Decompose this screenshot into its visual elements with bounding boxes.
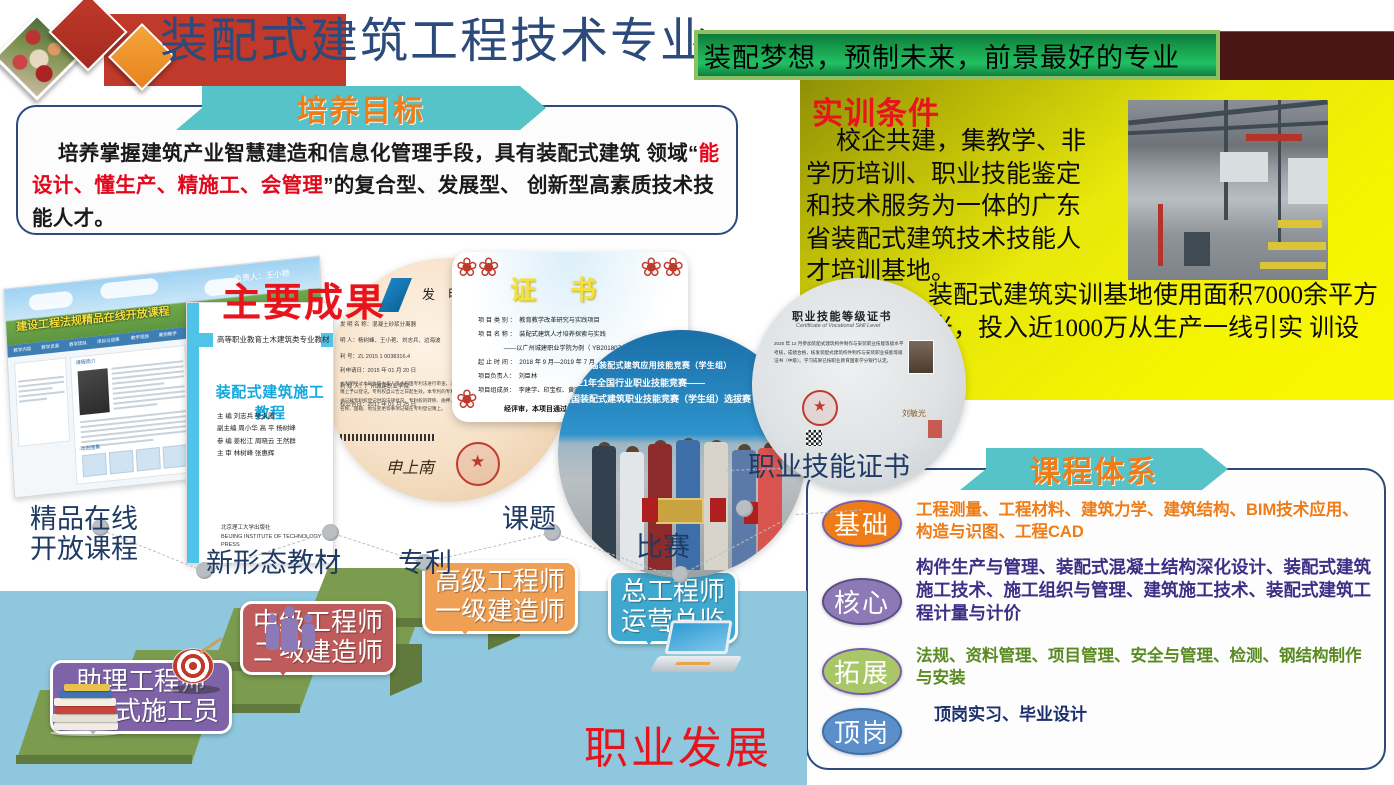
curriculum-pill-internship: 顶岗 (822, 708, 902, 755)
vocational-stamp-icon (928, 420, 942, 438)
vocational-seal-icon (802, 390, 838, 426)
result-label-online-course: 精品在线 开放课程 (30, 504, 138, 564)
laptop-icon (654, 620, 738, 672)
training-conditions-paragraph-2: 装配式建筑实训基地使用面积7000余平方米，投入近1000万从生产一线引实 训设… (928, 280, 1388, 378)
curriculum-text-internship: 顶岗实习、毕业设计 (934, 704, 1364, 726)
books-icon (50, 684, 122, 736)
textbook-series: 高等职业教育土木建筑类专业教材 (217, 334, 330, 345)
vocational-body: 2020 年 12 月参加装配式建筑构件制作与安装职业技能等级水平考核，成绩合格… (774, 340, 904, 366)
textbook-authors: 主 编 刘志兵 吴永霞 副主编 周小华 高 平 杨树峰 参 编 姜松江 周晓云 … (217, 411, 296, 460)
career-bubble-3-tail (452, 617, 478, 635)
result-label-competition: 比赛 (636, 532, 690, 562)
people-icon (264, 600, 330, 654)
header-dark-strip (1192, 31, 1394, 81)
patent-signature: 申上南 (386, 454, 434, 478)
ornament-icon-tr: ❀❀ (636, 254, 684, 288)
qr-code-icon (806, 430, 822, 446)
vocational-subtitle: Certificate of Vocational Skill Level (796, 323, 880, 329)
patent-seal-icon (456, 442, 500, 486)
curriculum-text-extension: 法规、资料管理、项目管理、安全与管理、检测、钢结构制作与安装 (916, 646, 1372, 690)
target-icon (168, 644, 226, 694)
training-conditions-paragraph-1: 校企共建，集教学、非学历培训、职业技能鉴定和技术服务为一体的广东省装配式建筑技术… (806, 126, 1086, 289)
goal-line-2-post: ”的复合型、发展型、 (323, 174, 521, 197)
ornament-icon-tl: ❀❀ (456, 254, 504, 288)
curriculum-text-foundation: 工程测量、工程材料、建筑力学、建筑结构、BIM技术应用、构造与识图、工程CAD (916, 500, 1368, 544)
curriculum-text-core: 构件生产与管理、装配式混凝土结构深化设计、装配式建筑施工技术、施工组织与管理、建… (916, 556, 1384, 625)
training-goal-text: 培养掌握建筑产业智慧建造和信息化管理手段，具有装配式建筑 领域“能设计、懂生产、… (32, 138, 732, 235)
result-label-patent: 专利 (398, 548, 452, 578)
textbook-cover: 高等职业教育土木建筑类专业教材 装配式建筑施工教程 主 编 刘志兵 吴永霞 副主… (186, 302, 334, 564)
goal-line-2-pre: 领域“ (646, 142, 698, 165)
page-title: 装配式建筑工程技术专业 (160, 18, 710, 66)
textbook-publisher: 北京理工大学出版社 BEIJING INSTITUTE OF TECHNOLOG… (221, 524, 333, 549)
curriculum-banner: 课程体系 (960, 448, 1228, 490)
portrait-photo (908, 340, 934, 374)
training-goal-banner: 培养目标 (176, 86, 546, 130)
connector-node-7 (736, 500, 753, 517)
results-title: 主要成果 (222, 272, 386, 328)
career-development-title: 职业发展 (584, 712, 772, 776)
connector-node-3 (322, 524, 339, 541)
certificate-heading: 证书 (510, 270, 630, 307)
patent-barcode (340, 434, 436, 441)
result-label-textbook: 新形态教材 (206, 548, 341, 578)
slogan-text: 装配梦想，预制未来，前景最好的专业 (698, 34, 1216, 76)
result-label-project: 课题 (502, 504, 556, 534)
vocational-signature: 刘敏光 (902, 408, 926, 419)
goal-line-1: 培养掌握建筑产业智慧建造和信息化管理手段，具有装配式建筑 (58, 142, 640, 165)
result-label-vocational-cert: 职业技能证书 (748, 452, 910, 482)
curriculum-pill-foundation: 基础 (822, 500, 902, 547)
career-bubble-2-tail (270, 658, 296, 676)
workshop-photo (1128, 100, 1328, 280)
curriculum-pill-extension: 拓展 (822, 648, 902, 695)
slide-canvas: 装配式建筑工程技术专业 装配梦想，预制未来，前景最好的专业 培养目标 培养掌握建… (0, 0, 1394, 785)
connector-node-6 (672, 566, 689, 583)
vocational-title: 职业技能等级证书 (792, 308, 892, 324)
curriculum-pill-core: 核心 (822, 578, 902, 625)
slogan-banner: 装配梦想，预制未来，前景最好的专业 (694, 30, 1220, 80)
